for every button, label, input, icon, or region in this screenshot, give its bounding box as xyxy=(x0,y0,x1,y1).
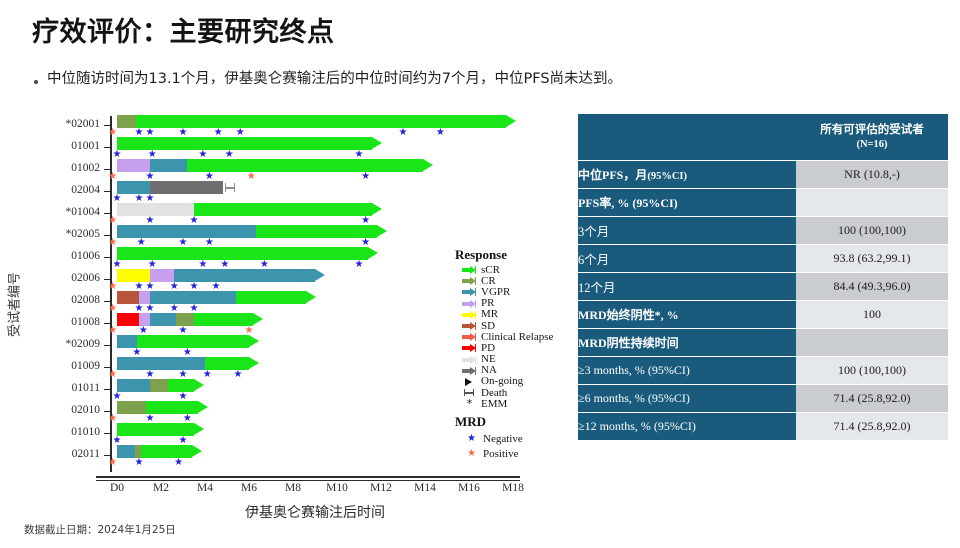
mrd-marker-negative: ★ xyxy=(135,283,144,290)
mrd-marker-negative: ★ xyxy=(179,393,188,400)
table-row-label: MRD阴性持续时间 xyxy=(578,329,796,356)
mrd-marker-negative: ★ xyxy=(179,327,188,334)
legend-mrd-title: MRD xyxy=(455,414,580,430)
efficacy-summary-table: 所有可评估的受试者 (N=16) 中位PFS，月(95%CI)NR (10.8,… xyxy=(578,113,948,441)
ongoing-arrow-icon xyxy=(506,115,516,127)
swimmer-segment-scr xyxy=(187,159,422,172)
x-axis-title: 伊基奥仑赛输注后时间 xyxy=(150,502,480,522)
mrd-marker-negative: ★ xyxy=(146,415,155,422)
mrd-marker-negative: ★ xyxy=(190,283,199,290)
mrd-marker-negative: ★ xyxy=(361,217,370,224)
ongoing-arrow-icon xyxy=(377,225,387,237)
mrd-marker-negative: ★ xyxy=(205,173,214,180)
swimmer-segment-cr xyxy=(117,115,136,128)
swimmer-segment-scr xyxy=(136,115,507,128)
x-axis-tick-label: M4 xyxy=(197,482,213,494)
legend-item-cr: CR xyxy=(455,275,580,286)
ongoing-arrow-icon xyxy=(372,203,382,215)
mrd-marker-negative: ★ xyxy=(436,129,445,136)
table-row: ≥3 months, % (95%CI)100 (100,100) xyxy=(578,357,948,384)
x-axis-tick-label: M18 xyxy=(502,482,524,494)
mrd-marker-positive: ★ xyxy=(108,239,117,246)
table-row-value xyxy=(796,329,948,356)
mrd-marker-positive: ★ xyxy=(108,217,117,224)
x-axis-tick-label: M16 xyxy=(458,482,480,494)
swimmer-bar-row: ★★★ xyxy=(0,181,560,202)
table-row-value xyxy=(796,189,948,216)
mrd-marker-negative: ★ xyxy=(113,393,122,400)
mrd-marker-negative: ★ xyxy=(198,151,207,158)
swimmer-bar-row: ★★★★★ xyxy=(0,159,560,180)
x-axis-line-secondary xyxy=(96,480,520,481)
mrd-star-icon: ★ xyxy=(464,433,479,444)
table-row-label: 6个月 xyxy=(578,245,796,272)
table-row: 3个月100 (100,100) xyxy=(578,217,948,244)
swimmer-segment-ne xyxy=(117,203,194,216)
table-row-label: 中位PFS，月(95%CI) xyxy=(578,161,796,188)
mrd-marker-negative: ★ xyxy=(146,195,155,202)
table-row-value: 84.4 (49.3,96.0) xyxy=(796,273,948,300)
mrd-marker-negative: ★ xyxy=(113,261,122,268)
table-header: 所有可评估的受试者 (N=16) xyxy=(578,114,948,160)
ongoing-arrow-icon xyxy=(372,137,382,149)
mrd-marker-negative: ★ xyxy=(399,129,408,136)
legend-item-label: CR xyxy=(481,275,496,287)
ongoing-arrow-icon xyxy=(368,247,378,259)
mrd-marker-negative: ★ xyxy=(361,239,370,246)
swimmer-segment-vgpr xyxy=(150,159,187,172)
mrd-marker-negative: ★ xyxy=(170,283,179,290)
x-axis-line xyxy=(96,476,520,478)
mrd-marker-negative: ★ xyxy=(220,261,229,268)
mrd-marker-negative: ★ xyxy=(179,437,188,444)
ongoing-arrow-icon xyxy=(315,269,325,281)
mrd-marker-negative: ★ xyxy=(203,371,212,378)
mrd-marker-negative: ★ xyxy=(146,371,155,378)
ongoing-arrow-icon xyxy=(249,335,259,347)
mrd-marker-negative: ★ xyxy=(135,195,144,202)
mrd-marker-positive: ★ xyxy=(108,327,117,334)
x-axis-tick-label: M14 xyxy=(414,482,436,494)
mrd-marker-positive: ★ xyxy=(247,173,256,180)
legend-item-pd: PD xyxy=(455,342,580,353)
legend-item-label: Death xyxy=(481,387,507,399)
mrd-marker-negative: ★ xyxy=(190,217,199,224)
legend-mrd-item-negative: ★Negative xyxy=(455,431,580,446)
swimmer-bar-row: ★★★★★ xyxy=(0,137,560,158)
legend-item-label: MR xyxy=(481,308,498,320)
legend-swatch-icon xyxy=(462,355,477,364)
table-row: ≥6 months, % (95%CI)71.4 (25.8,92.0) xyxy=(578,385,948,412)
mrd-marker-negative: ★ xyxy=(214,129,223,136)
table-row-value: 100 (100,100) xyxy=(796,217,948,244)
swimmer-segment-vgpr xyxy=(117,445,135,458)
mrd-star-icon: ★ xyxy=(464,448,479,459)
table-row-label: 12个月 xyxy=(578,273,796,300)
legend-item-label: NE xyxy=(481,353,496,365)
ongoing-arrow-icon xyxy=(306,291,316,303)
mrd-marker-positive: ★ xyxy=(108,283,117,290)
mrd-marker-positive: ★ xyxy=(108,129,117,136)
ongoing-arrow-icon xyxy=(462,377,477,386)
ongoing-arrow-icon xyxy=(253,313,263,325)
legend-item-scr: sCR xyxy=(455,264,580,275)
swimmer-bar-row: ★★★★★ xyxy=(0,225,560,246)
legend-item-emm: *EMM xyxy=(455,398,580,409)
legend-response-title: Response xyxy=(455,247,580,263)
swimmer-segment-vgpr xyxy=(117,379,150,392)
legend-item-label: VGPR xyxy=(481,286,510,298)
mrd-marker-negative: ★ xyxy=(355,261,364,268)
legend-item-label: EMM xyxy=(481,398,507,410)
ongoing-arrow-icon xyxy=(423,159,433,171)
legend-swatch-icon xyxy=(462,276,477,285)
legend-item-na: NA xyxy=(455,365,580,376)
x-axis-tick-label: M10 xyxy=(326,482,348,494)
ongoing-arrow-icon xyxy=(192,445,202,457)
swimmer-segment-scr xyxy=(236,291,306,304)
death-marker-cap-right xyxy=(234,183,236,192)
x-axis-tick-label: D0 xyxy=(110,482,124,494)
table-row: PFS率, % (95%CI) xyxy=(578,189,948,216)
mrd-marker-negative: ★ xyxy=(148,151,157,158)
legend-swatch-icon xyxy=(462,310,477,319)
table-row: 6个月93.8 (63.2,99.1) xyxy=(578,245,948,272)
mrd-marker-negative: ★ xyxy=(146,305,155,312)
table-header-left xyxy=(578,114,796,160)
table-row-value: 100 xyxy=(796,301,948,328)
table-row-label: ≥12 months, % (95%CI) xyxy=(578,413,796,440)
x-axis-tick-label: M2 xyxy=(153,482,169,494)
legend-item-label: On-going xyxy=(481,375,523,387)
mrd-marker-negative: ★ xyxy=(146,129,155,136)
swimmer-bar-row: ★★★★★★★★ xyxy=(0,115,560,136)
mrd-marker-negative: ★ xyxy=(135,305,144,312)
swimmer-segment-na xyxy=(150,181,223,194)
legend-item-sd: SD xyxy=(455,320,580,331)
swimmer-segment-cr xyxy=(117,401,146,414)
legend-item-pr: PR xyxy=(455,298,580,309)
mrd-marker-negative: ★ xyxy=(174,459,183,466)
table-row: 中位PFS，月(95%CI)NR (10.8,-) xyxy=(578,161,948,188)
mrd-marker-negative: ★ xyxy=(183,415,192,422)
table-row-value: 71.4 (25.8,92.0) xyxy=(796,413,948,440)
legend-swatch-icon xyxy=(462,366,477,375)
swimmer-segment-pd xyxy=(117,313,139,326)
swimmer-bar-row: ★★★★ xyxy=(0,203,560,224)
legend-swatch-icon xyxy=(462,299,477,308)
swimmer-segment-scr xyxy=(194,203,372,216)
summary-bullet: 中位随访时间为13.1个月，伊基奥仑赛输注后的中位时间约为7个月，中位PFS尚未… xyxy=(34,70,934,90)
legend-swatch-icon xyxy=(462,332,477,341)
table-row-value: 93.8 (63.2,99.1) xyxy=(796,245,948,272)
legend-item-label: sCR xyxy=(481,264,500,276)
ongoing-arrow-icon xyxy=(198,401,208,413)
legend-item-vgpr: VGPR xyxy=(455,286,580,297)
mrd-marker-negative: ★ xyxy=(179,129,188,136)
ongoing-arrow-icon xyxy=(194,423,204,435)
mrd-marker-negative: ★ xyxy=(146,217,155,224)
mrd-marker-negative: ★ xyxy=(190,305,199,312)
table-row-label: ≥3 months, % (95%CI) xyxy=(578,357,796,384)
mrd-marker-negative: ★ xyxy=(179,239,188,246)
legend-item-label: SD xyxy=(481,320,495,332)
swimmer-segment-scr xyxy=(256,225,377,238)
mrd-marker-negative: ★ xyxy=(205,239,214,246)
mrd-marker-negative: ★ xyxy=(139,327,148,334)
table-row-label: ≥6 months, % (95%CI) xyxy=(578,385,796,412)
bullet-dot-icon xyxy=(34,80,38,84)
swimmer-segment-scr xyxy=(137,335,249,348)
mrd-marker-negative: ★ xyxy=(113,151,122,158)
mrd-marker-negative: ★ xyxy=(135,129,144,136)
legend-item-label: PD xyxy=(481,342,495,354)
mrd-marker-negative: ★ xyxy=(146,283,155,290)
mrd-marker-negative: ★ xyxy=(260,261,269,268)
legend-swatch-icon xyxy=(462,265,477,274)
table-body: 中位PFS，月(95%CI)NR (10.8,-)PFS率, % (95%CI)… xyxy=(578,161,948,440)
mrd-marker-positive: ★ xyxy=(108,371,117,378)
legend-item-clinical-relapse: Clinical Relapse xyxy=(455,331,580,342)
mrd-marker-positive: ★ xyxy=(108,173,117,180)
legend-item-label: Clinical Relapse xyxy=(481,331,553,343)
legend-swatch-icon xyxy=(462,343,477,352)
legend-mrd-item-positive: ★Positive xyxy=(455,446,580,461)
mrd-marker-negative: ★ xyxy=(236,129,245,136)
death-marker-icon xyxy=(462,388,477,397)
legend-item-ne: NE xyxy=(455,354,580,365)
legend-item-label: NA xyxy=(481,364,497,376)
summary-bullet-text: 中位随访时间为13.1个月，伊基奥仑赛输注后的中位时间约为7个月，中位PFS尚未… xyxy=(47,70,622,90)
table-row-label: PFS率, % (95%CI) xyxy=(578,189,796,216)
chart-legend: Response sCRCRVGPRPRMRSDClinical Relapse… xyxy=(455,247,580,461)
mrd-marker-negative: ★ xyxy=(137,239,146,246)
table-header-right: 所有可评估的受试者 (N=16) xyxy=(796,114,948,160)
table-row: 12个月84.4 (49.3,96.0) xyxy=(578,273,948,300)
table-row-value: NR (10.8,-) xyxy=(796,161,948,188)
mrd-marker-negative: ★ xyxy=(113,437,122,444)
mrd-marker-negative: ★ xyxy=(225,151,234,158)
mrd-marker-positive: ★ xyxy=(108,459,117,466)
ongoing-arrow-icon xyxy=(194,379,204,391)
emm-asterisk-icon: * xyxy=(462,397,477,410)
legend-response-items: sCRCRVGPRPRMRSDClinical RelapsePDNENAOn-… xyxy=(455,264,580,409)
swimmer-segment-cr xyxy=(150,379,168,392)
legend-item-death: Death xyxy=(455,387,580,398)
legend-item-label: Negative xyxy=(483,433,523,445)
ongoing-arrow-icon xyxy=(249,357,259,369)
x-axis-tick-label: M12 xyxy=(370,482,392,494)
mrd-marker-negative: ★ xyxy=(212,283,221,290)
data-cutoff-footnote: 数据截止日期：2024年1月25日 xyxy=(24,522,176,537)
mrd-marker-negative: ★ xyxy=(179,371,188,378)
table-row-value: 100 (100,100) xyxy=(796,357,948,384)
table-row-label: MRD始终阴性*, % xyxy=(578,301,796,328)
x-axis-tick-label: M6 xyxy=(241,482,257,494)
legend-item-on-going: On-going xyxy=(455,376,580,387)
mrd-marker-negative: ★ xyxy=(170,305,179,312)
legend-item-label: Positive xyxy=(483,448,518,460)
mrd-marker-positive: ★ xyxy=(108,415,117,422)
page-title: 疗效评价：主要研究终点 xyxy=(32,10,335,49)
mrd-marker-negative: ★ xyxy=(148,261,157,268)
table-row: MRD阴性持续时间 xyxy=(578,329,948,356)
swimmer-segment-vgpr xyxy=(150,313,176,326)
table-row-label: 3个月 xyxy=(578,217,796,244)
swimmer-segment-vgpr xyxy=(117,357,205,370)
table-header-right-line2: (N=16) xyxy=(796,138,948,151)
legend-item-mr: MR xyxy=(455,309,580,320)
mrd-marker-positive: ★ xyxy=(245,327,254,334)
legend-item-label: PR xyxy=(481,297,494,309)
mrd-marker-positive: ★ xyxy=(108,305,117,312)
legend-swatch-icon xyxy=(462,321,477,330)
mrd-marker-negative: ★ xyxy=(355,151,364,158)
mrd-marker-negative: ★ xyxy=(234,371,243,378)
table-row: ≥12 months, % (95%CI)71.4 (25.8,92.0) xyxy=(578,413,948,440)
mrd-marker-negative: ★ xyxy=(132,349,141,356)
mrd-marker-negative: ★ xyxy=(113,195,122,202)
table-header-right-line1: 所有可评估的受试者 xyxy=(796,123,948,137)
swimmer-segment-scr xyxy=(141,445,192,458)
mrd-marker-negative: ★ xyxy=(146,173,155,180)
mrd-marker-negative: ★ xyxy=(135,459,144,466)
table-row: MRD始终阴性*, %100 xyxy=(578,301,948,328)
legend-mrd-items: ★Negative★Positive xyxy=(455,431,580,461)
mrd-marker-negative: ★ xyxy=(361,173,370,180)
x-axis-tick-label: M8 xyxy=(285,482,301,494)
mrd-marker-negative: ★ xyxy=(198,261,207,268)
table-header-row: 所有可评估的受试者 (N=16) xyxy=(578,114,948,160)
table-row-value: 71.4 (25.8,92.0) xyxy=(796,385,948,412)
mrd-marker-negative: ★ xyxy=(183,349,192,356)
legend-swatch-icon xyxy=(462,287,477,296)
